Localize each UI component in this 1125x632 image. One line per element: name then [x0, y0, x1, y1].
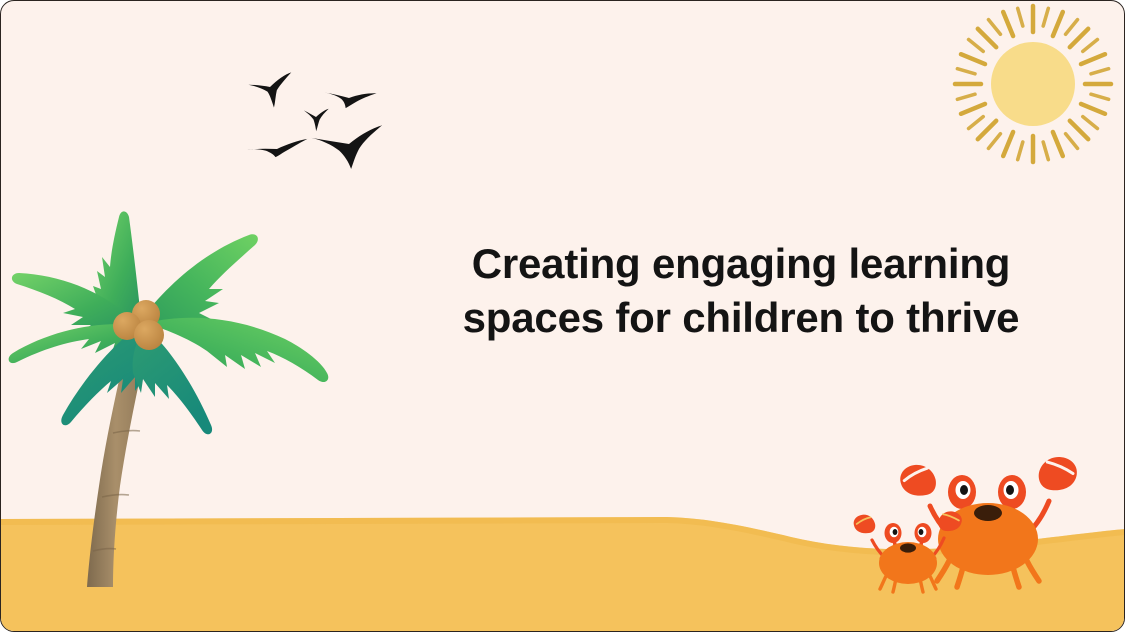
crab-large [896, 451, 1081, 587]
sun-disc [991, 42, 1075, 126]
bird-icon [303, 108, 329, 132]
sand-foam-edge [1, 517, 1125, 555]
slide-canvas: Creating engaging learning spaces for ch… [0, 0, 1125, 632]
crab-claw [896, 459, 940, 503]
title-line-1: Creating engaging learning [401, 237, 1081, 291]
crab-eye [885, 523, 902, 543]
crab-eye [998, 475, 1026, 509]
bird-icon [247, 139, 309, 159]
page-title: Creating engaging learning spaces for ch… [401, 237, 1081, 345]
bird-icon [322, 86, 376, 112]
crab-eye [948, 475, 976, 509]
crab-small [851, 508, 964, 592]
palm-fronds [9, 211, 329, 434]
title-line-2: spaces for children to thrive [401, 291, 1081, 345]
palm-coconuts [113, 300, 164, 350]
crab-claw [851, 511, 877, 537]
crab-mouth [900, 543, 916, 552]
palm-trunk [87, 323, 151, 587]
crab-eye [915, 523, 932, 543]
bird-icon [311, 125, 384, 170]
crab-body [879, 542, 937, 584]
crab-mouth [974, 505, 1002, 521]
crab-claw [1035, 451, 1082, 497]
crab-claw [936, 508, 964, 535]
bird-icon [248, 72, 296, 110]
crab-body [938, 503, 1038, 575]
sand-shape [1, 517, 1125, 632]
